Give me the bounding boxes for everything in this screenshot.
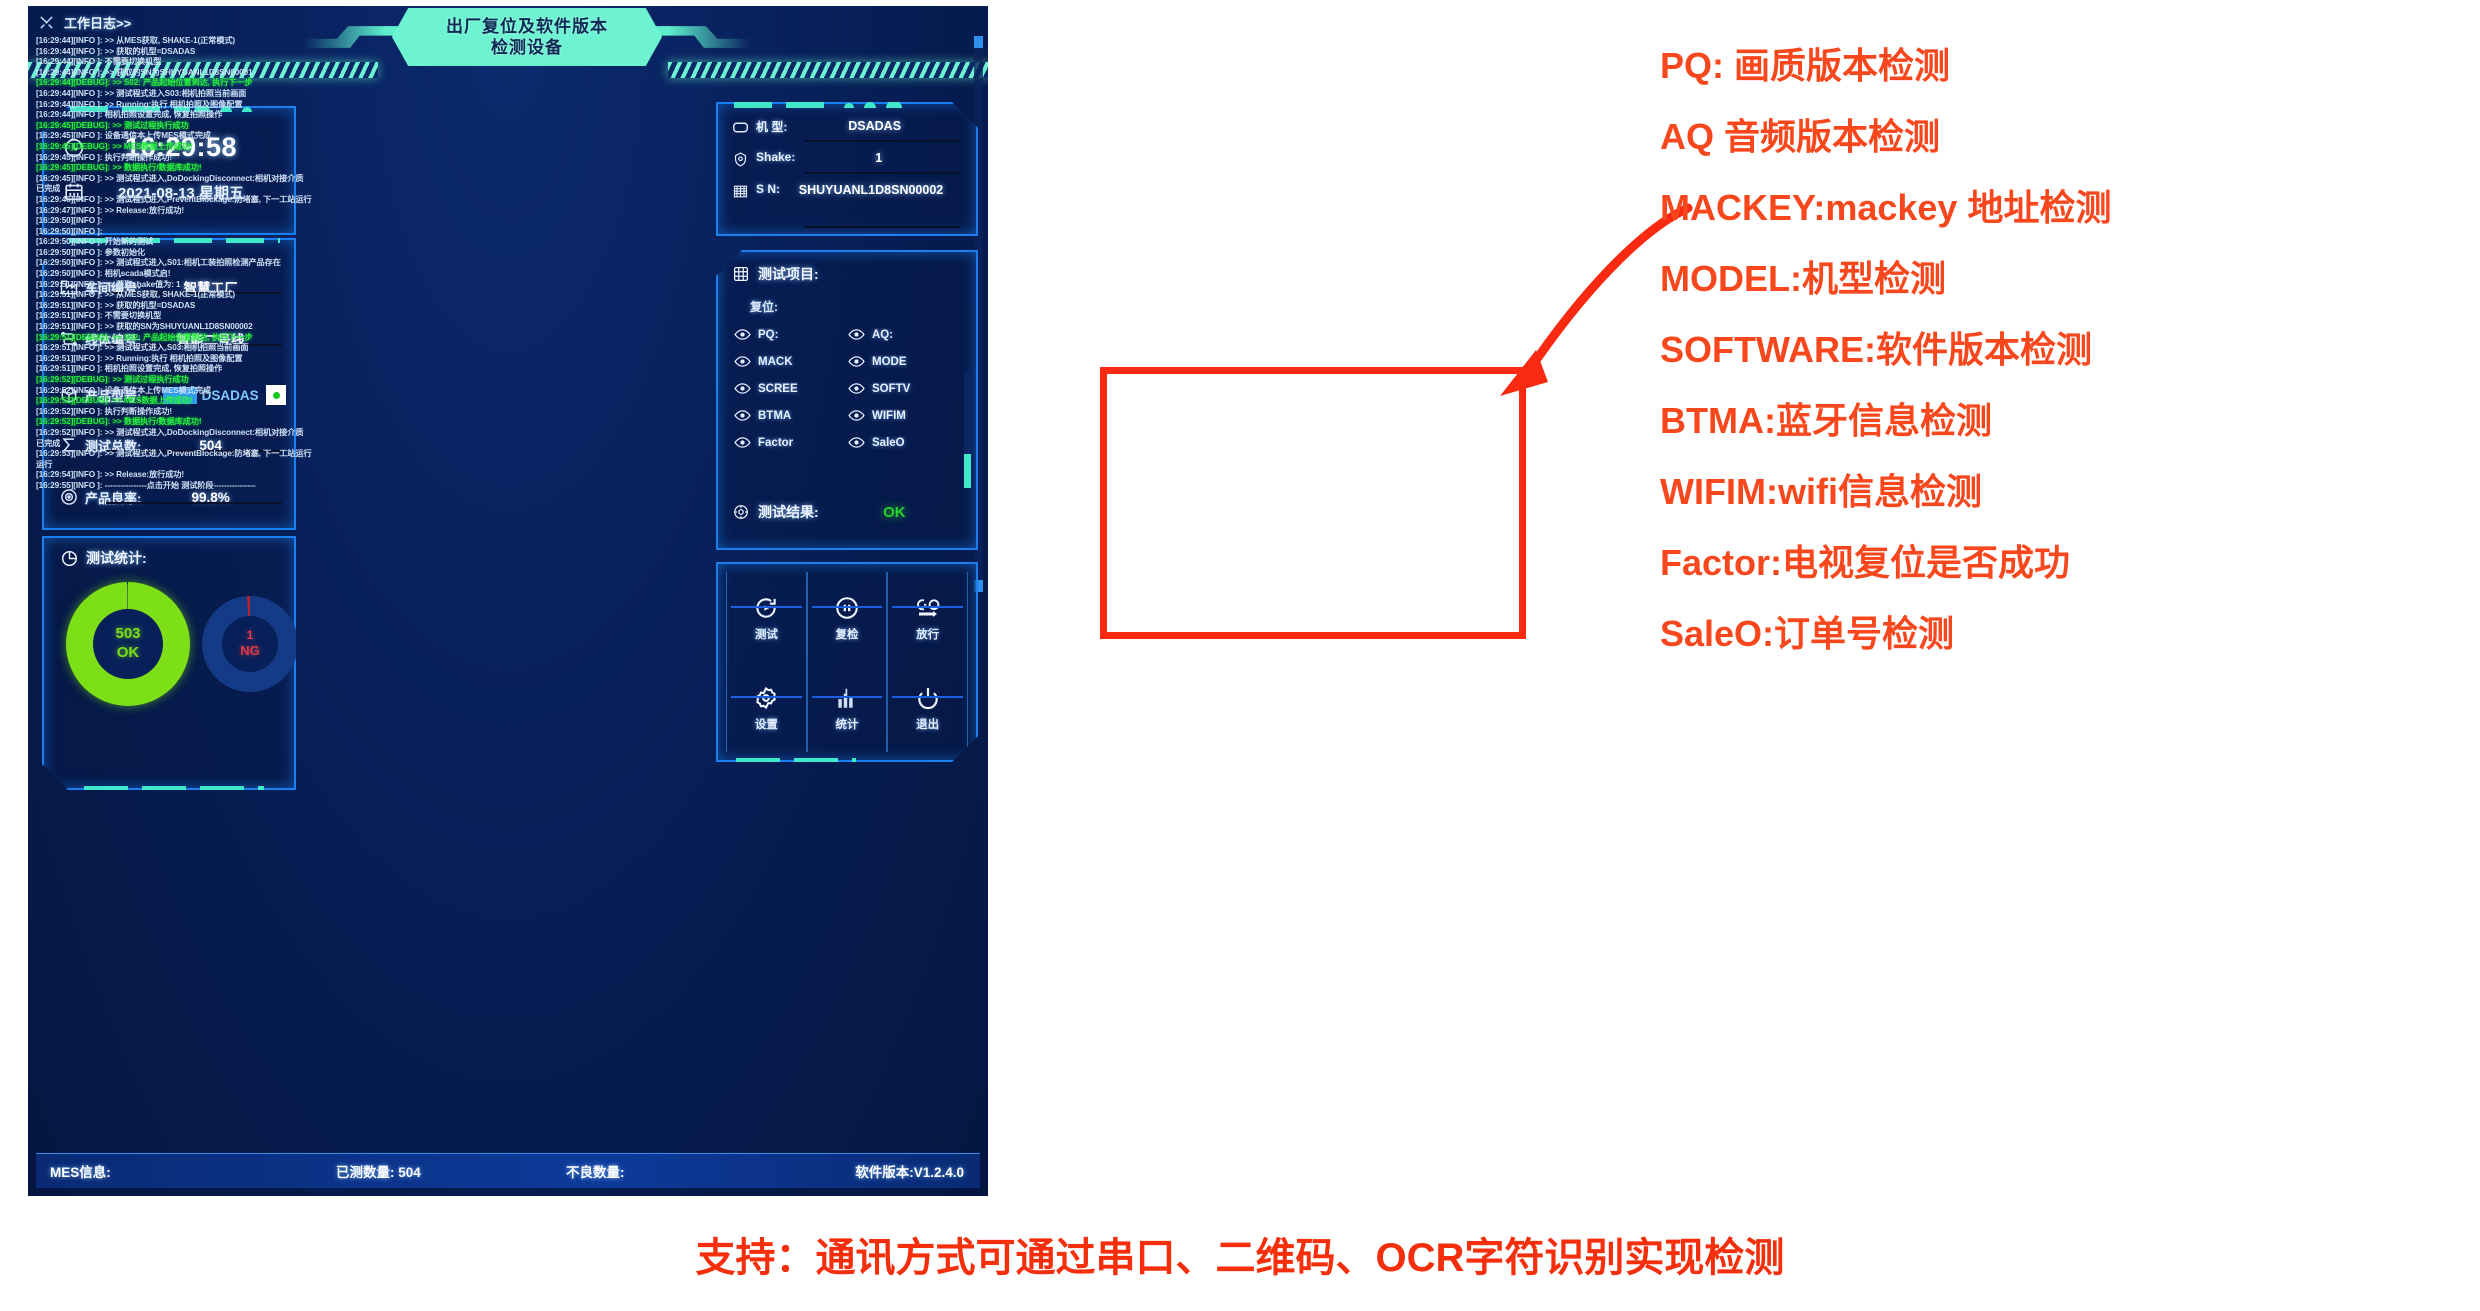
log-line: [16:29:52][INFO ]: 设备通信本上传MES模式完成 [36, 386, 412, 397]
log-line: [16:29:45][DEBUG]: >> 数据执行/数据库成功! [36, 163, 412, 174]
machine-label-shake: Shake: [756, 150, 795, 164]
eye-icon [734, 355, 751, 368]
ok-donut-chart: 503 OK [66, 582, 190, 706]
log-line: 已完成 [36, 439, 412, 450]
log-line: [16:29:45][INFO ]: 设备通信本上传MES模式完成 [36, 131, 412, 142]
log-line: [16:29:47][INFO ]: >> Release:放行成功! [36, 206, 412, 217]
test-item-label: MACK [758, 356, 793, 368]
test-item-label: SaleO [872, 437, 905, 449]
machine-separator [804, 172, 960, 174]
test-item-btma[interactable]: BTMA [734, 409, 848, 422]
log-line: [16:29:51][INFO ]: >> 测试程式进入,S03:相机拍照当前画… [36, 343, 412, 354]
settings-button[interactable]: 设置 [726, 662, 807, 752]
machine-separator [804, 226, 960, 228]
test-items-header: 测试项目: [732, 264, 819, 284]
test-item-mack[interactable]: MACK [734, 355, 848, 368]
log-line: [16:29:52][DEBUG]: >> MES数据上传成功! [36, 396, 412, 407]
log-line: 运行 [36, 460, 412, 471]
exit-button-label: 退出 [916, 716, 939, 732]
annotation-list: PQ: 画质版本检测AQ 音频版本检测MACKEY:mackey 地址检测MOD… [1660, 48, 2460, 687]
eye-icon [734, 436, 751, 449]
test-item-label: MODE [872, 356, 907, 368]
test-item-factor[interactable]: Factor [734, 436, 848, 449]
ng-donut-chart: 1 NG [202, 596, 298, 692]
action-buttons-grid: 测试 复检 [726, 572, 968, 752]
machine-label-sn: S N: [756, 182, 780, 196]
ok-donut-label: 503 OK [115, 625, 140, 663]
status-tested-count: 已测数量: 504 [336, 1161, 421, 1181]
log-line: [16:29:45][INFO ]: 执行判断操作成功! [36, 153, 412, 164]
statistics-button[interactable]: 统计 [807, 662, 888, 752]
test-item-scree[interactable]: SCREE [734, 382, 848, 395]
eye-icon [848, 328, 865, 341]
log-line: [16:29:52][DEBUG]: >> 数据执行/数据库成功! [36, 417, 412, 428]
exit-button[interactable]: 退出 [887, 662, 968, 752]
log-line: [16:29:45][DEBUG]: >> 测试过程执行成功 [36, 121, 412, 132]
test-items-header-label: 测试项目: [758, 264, 819, 284]
log-line: [16:29:50][INFO ]: 参数初始化 [36, 248, 412, 259]
footer-note: 支持：通讯方式可通过串口、二维码、OCR字符识别实现检测 [340, 1225, 2140, 1283]
tools-icon [38, 14, 55, 31]
log-line: [16:29:52][INFO ]: 执行判断操作成功! [36, 407, 412, 418]
log-line: [16:29:52][DEBUG]: >> 测试过程执行成功 [36, 375, 412, 386]
test-item-aq[interactable]: AQ: [848, 328, 962, 341]
test-item-softv[interactable]: SOFTV [848, 382, 962, 395]
test-item-label: PQ: [758, 329, 778, 341]
status-mes: MES信息: [50, 1161, 111, 1181]
log-line: 已完成 [36, 184, 412, 195]
log-line: [16:29:50][INFO ]: 开始新的测试 [36, 237, 412, 248]
eye-icon [848, 436, 865, 449]
recheck-button[interactable]: 复检 [807, 572, 888, 662]
log-line: [16:29:54][INFO ]: >> Release:放行成功! [36, 470, 412, 481]
test-item-label: AQ: [872, 329, 893, 341]
log-line: [16:29:44][INFO ]: >> Running:执行 相机拍照及图像… [36, 100, 412, 111]
log-line: [16:29:53][INFO ]: >> 测试程式进入,PreventBloc… [36, 449, 412, 460]
title-wing-right [654, 20, 750, 54]
release-button-label: 放行 [916, 626, 939, 642]
highlight-callout-box [1100, 367, 1526, 639]
screenshot-root: 出厂复位及软件版本 检测设备 16:29:58 [0, 0, 2480, 1311]
machine-separator [804, 140, 960, 142]
log-line: [16:29:50][INFO ]: 相机scada模式启! [36, 269, 412, 280]
annotation-note: AQ 音频版本检测 [1660, 119, 2460, 155]
test-result-row: 测试结果: OK [732, 502, 962, 522]
action-buttons-panel: 测试 复检 [716, 562, 978, 762]
statistics-button-label: 统计 [835, 716, 858, 732]
test-item-pq[interactable]: PQ: [734, 328, 848, 341]
hatch-decor-right [668, 62, 988, 78]
log-line: [16:29:46][INFO ]: >> 测试程式进入,PreventBloc… [36, 195, 412, 206]
annotation-note: MODEL:机型检测 [1660, 261, 2460, 297]
test-item-label: SOFTV [872, 383, 910, 395]
machine-value-shake: 1 [795, 150, 962, 167]
log-line: [16:29:44][INFO ]: >> 获取的SN为SHUYUANL1D8S… [36, 68, 412, 79]
page-title-line1: 出厂复位及软件版本 [446, 16, 608, 37]
log-list[interactable]: [16:29:44][INFO ]: >> 从MES获取, SHAKE-1(正常… [36, 36, 412, 592]
test-button-label: 测试 [755, 626, 778, 642]
machine-row-sn: S N: SHUYUANL1D8SN00002 [730, 182, 962, 200]
ng-donut-label: 1 NG [240, 628, 260, 659]
machine-label-model: 机 型: [756, 118, 787, 135]
shake-icon [730, 150, 750, 168]
log-line: [16:29:50][INFO ]: >> 测试程式进入,S01:相机工装拍照检… [36, 258, 412, 269]
annotation-note: BTMA:蓝牙信息检测 [1660, 403, 2460, 439]
eye-icon [848, 382, 865, 395]
annotation-note: Factor:电视复位是否成功 [1660, 545, 2460, 581]
work-log-panel: 工作日志>> [16:29:44][INFO ]: >> 从MES获取, SHA… [28, 6, 432, 610]
machine-value-sn: SHUYUANL1D8SN00002 [780, 182, 962, 199]
barcode-icon [730, 182, 750, 200]
eye-icon [848, 355, 865, 368]
button-underline [731, 606, 802, 608]
machine-row-model: 机 型: DSADAS [730, 118, 962, 136]
log-line: [16:29:51][INFO ]: >> 从MES获取, SHAKE-1(正常… [36, 290, 412, 301]
log-line: [16:29:51][INFO ]: 相机拍照设置完成, 恢复拍照操作 [36, 364, 412, 375]
test-items-grid: PQ:AQ:MACKMODESCREESOFTVBTMAWIFIMFactorS… [734, 328, 962, 449]
machine-value-model: DSADAS [787, 118, 962, 135]
eye-icon [734, 382, 751, 395]
log-line: [16:29:44][INFO ]: >> 测试程式进入S03:相机拍照当前画面 [36, 89, 412, 100]
log-header: 工作日志>> [38, 13, 131, 32]
annotation-note: WIFIM:wifi信息检测 [1660, 474, 2460, 510]
status-ng-count: 不良数量: [566, 1161, 625, 1181]
settings-button-label: 设置 [755, 716, 778, 732]
test-items-scrollbar[interactable] [964, 372, 971, 488]
log-line: [16:29:44][INFO ]: 相机拍照设置完成, 恢复拍照操作 [36, 110, 412, 121]
log-line: [16:29:51][DEBUG]: >> S02: 产品起始位置到达, 执行下… [36, 333, 412, 344]
log-line: [16:29:51][INFO ]: >> 获取的SN为SHUYUANL1D8S… [36, 322, 412, 333]
test-item-label: BTMA [758, 410, 791, 422]
button-underline [892, 606, 963, 608]
log-header-label: 工作日志>> [64, 13, 131, 32]
machine-info-panel: 机 型: DSADAS Shake: 1 [716, 102, 978, 236]
eye-icon [734, 328, 751, 341]
test-result-value: OK [827, 504, 962, 521]
log-line: [16:29:52][INFO ]: >> 测试程式进入,DoDockingDi… [36, 428, 412, 439]
checklist-icon [732, 265, 750, 283]
log-line: [16:29:51][INFO ]: >> 获取的机型=DSADAS [36, 301, 412, 312]
annotation-note: PQ: 画质版本检测 [1660, 48, 2460, 84]
log-line: [16:29:44][DEBUG]: >> S02: 产品起始位置到达, 执行下… [36, 78, 412, 89]
page-title: 出厂复位及软件版本 检测设备 [392, 8, 662, 66]
log-line: [16:29:55][INFO ]: ----------------点击开始 … [36, 481, 412, 492]
annotation-note: MACKEY:mackey 地址检测 [1660, 190, 2460, 226]
test-item-saleo[interactable]: SaleO [848, 436, 962, 449]
result-gear-icon [732, 503, 750, 521]
log-line: [16:29:51][INFO ]: >> 获取shake值为: 1 [36, 280, 412, 291]
log-line: [16:29:44][INFO ]: 不需要切换机型 [36, 57, 412, 68]
test-item-label: SCREE [758, 383, 798, 395]
test-items-panel: 测试项目: 复位: PQ:AQ:MACKMODESCREESOFTVBTMAWI… [716, 250, 978, 550]
log-line: [16:29:50][INFO ]: [36, 216, 412, 227]
log-line: [16:29:50][INFO ]: [36, 227, 412, 238]
test-item-label: WIFIM [872, 410, 906, 422]
log-line: [16:29:44][INFO ]: >> 获取的机型=DSADAS [36, 47, 412, 58]
test-item-mode[interactable]: MODE [848, 355, 962, 368]
ng-label: NG [240, 643, 260, 659]
eye-icon [734, 409, 751, 422]
button-underline [812, 696, 883, 698]
ng-count: 1 [240, 628, 260, 643]
status-bar: MES信息: 已测数量: 504 不良数量: 软件版本:V1.2.4.0 [36, 1153, 980, 1188]
test-item-label: Factor [758, 437, 793, 449]
release-button[interactable]: 放行 [887, 572, 968, 662]
page-title-line2: 检测设备 [491, 37, 563, 58]
log-line: [16:29:51][INFO ]: >> Running:执行 相机拍照及图像… [36, 354, 412, 365]
button-underline [892, 696, 963, 698]
monitor-icon [730, 118, 750, 136]
recheck-button-label: 复检 [835, 626, 858, 642]
log-line: [16:29:45][INFO ]: >> 测试程式进入,DoDockingDi… [36, 174, 412, 185]
annotation-note: SOFTWARE:软件版本检测 [1660, 332, 2460, 368]
status-version: 软件版本:V1.2.4.0 [855, 1161, 964, 1181]
button-underline [731, 696, 802, 698]
annotation-note: SaleO:订单号检测 [1660, 616, 2460, 652]
log-line: [16:29:51][INFO ]: 不需要切换机型 [36, 311, 412, 322]
test-item-wifim[interactable]: WIFIM [848, 409, 962, 422]
hmi-screen: 出厂复位及软件版本 检测设备 16:29:58 [28, 6, 988, 1196]
test-button[interactable]: 测试 [726, 572, 807, 662]
log-line: [16:29:44][INFO ]: >> 从MES获取, SHAKE-1(正常… [36, 36, 412, 47]
machine-row-shake: Shake: 1 [730, 150, 962, 168]
button-underline [812, 606, 883, 608]
test-result-label: 测试结果: [758, 502, 819, 522]
test-items-subtitle: 复位: [750, 298, 778, 315]
ok-label: OK [115, 644, 140, 663]
eye-icon [848, 409, 865, 422]
ok-count: 503 [115, 625, 140, 644]
log-line: [16:29:45][DEBUG]: >> MES数据上传成功! [36, 142, 412, 153]
